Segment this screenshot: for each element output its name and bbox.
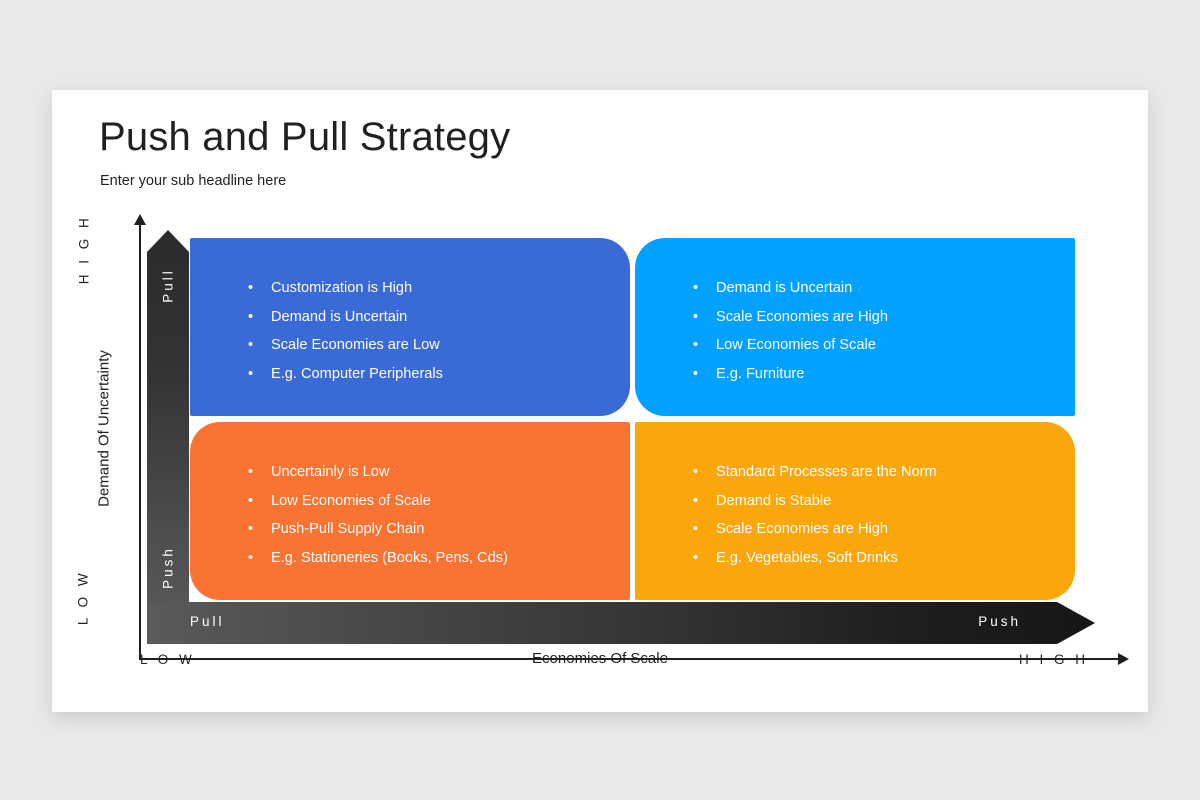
list-item-label: E.g. Stationeries (Books, Pens, Cds) xyxy=(271,550,508,566)
bullet-icon: • xyxy=(693,274,698,303)
bullet-icon: • xyxy=(248,331,253,360)
list-item-label: Demand is Stable xyxy=(716,493,831,509)
list-item: •Uncertainly is Low xyxy=(248,458,508,487)
list-item-label: E.g. Vegetables, Soft Drinks xyxy=(716,550,898,566)
list-item-label: Uncertainly is Low xyxy=(271,464,389,480)
list-item-label: Demand is Uncertain xyxy=(716,280,852,296)
bullet-icon: • xyxy=(248,274,253,303)
list-item: •E.g. Stationeries (Books, Pens, Cds) xyxy=(248,544,508,573)
list-item-label: Scale Economies are Low xyxy=(271,337,440,353)
vertical-axis-line xyxy=(139,222,141,660)
horizontal-push-pull-bar: Pull Push xyxy=(147,602,1095,644)
list-item: •Demand is Uncertain xyxy=(248,303,443,332)
list-item-label: Customization is High xyxy=(271,280,412,296)
horizontal-bar-pull-label: Pull xyxy=(190,614,225,629)
list-item: •E.g. Computer Peripherals xyxy=(248,360,443,389)
quadrant-bottom-right[interactable]: •Standard Processes are the Norm•Demand … xyxy=(635,422,1075,600)
y-axis-title: Demand Of Uncertainty xyxy=(96,339,113,519)
quadrant-bottom-left[interactable]: •Uncertainly is Low•Low Economies of Sca… xyxy=(190,422,630,600)
bullet-icon: • xyxy=(693,360,698,389)
vertical-axis-arrow-icon xyxy=(134,214,146,225)
quadrant-bottom-left-list: •Uncertainly is Low•Low Economies of Sca… xyxy=(248,458,508,573)
list-item-label: Low Economies of Scale xyxy=(271,493,431,509)
list-item-label: Scale Economies are High xyxy=(716,309,888,325)
horizontal-bar-push-label: Push xyxy=(978,614,1021,629)
bullet-icon: • xyxy=(693,544,698,573)
list-item: •E.g. Furniture xyxy=(693,360,888,389)
y-axis-low-label: L O W xyxy=(76,563,91,633)
list-item: •Standard Processes are the Norm xyxy=(693,458,937,487)
list-item: •Push-Pull Supply Chain xyxy=(248,515,508,544)
bullet-icon: • xyxy=(693,458,698,487)
list-item: •Demand is Uncertain xyxy=(693,274,888,303)
list-item-label: Push-Pull Supply Chain xyxy=(271,521,424,537)
list-item: •Low Economies of Scale xyxy=(248,487,508,516)
quadrant-bottom-right-list: •Standard Processes are the Norm•Demand … xyxy=(693,458,937,573)
bullet-icon: • xyxy=(693,331,698,360)
list-item: •Low Economies of Scale xyxy=(693,331,888,360)
list-item: •Scale Economies are High xyxy=(693,515,937,544)
quadrant-top-left-list: •Customization is High•Demand is Uncerta… xyxy=(248,274,443,389)
list-item: •Scale Economies are Low xyxy=(248,331,443,360)
list-item-label: Standard Processes are the Norm xyxy=(716,464,937,480)
slide-card: Push and Pull Strategy Enter your sub he… xyxy=(52,90,1148,712)
list-item: •Demand is Stable xyxy=(693,487,937,516)
bullet-icon: • xyxy=(248,515,253,544)
bullet-icon: • xyxy=(693,487,698,516)
bullet-icon: • xyxy=(693,515,698,544)
vertical-push-pull-bar: Pull Push xyxy=(147,230,189,630)
list-item: •Scale Economies are High xyxy=(693,303,888,332)
bullet-icon: • xyxy=(248,360,253,389)
list-item-label: Low Economies of Scale xyxy=(716,337,876,353)
quadrant-top-right-list: •Demand is Uncertain•Scale Economies are… xyxy=(693,274,888,389)
vertical-bar-pull-label: Pull xyxy=(161,249,176,323)
x-axis-high-label: H I G H xyxy=(1019,652,1089,667)
bullet-icon: • xyxy=(248,544,253,573)
bullet-icon: • xyxy=(248,303,253,332)
list-item: •Customization is High xyxy=(248,274,443,303)
list-item-label: E.g. Furniture xyxy=(716,366,804,382)
list-item-label: Scale Economies are High xyxy=(716,521,888,537)
quadrant-top-right[interactable]: •Demand is Uncertain•Scale Economies are… xyxy=(635,238,1075,416)
push-pull-matrix: Pull Push Pull Push •Customization is Hi… xyxy=(52,90,1148,712)
list-item: •E.g. Vegetables, Soft Drinks xyxy=(693,544,937,573)
list-item-label: E.g. Computer Peripherals xyxy=(271,366,443,382)
bullet-icon: • xyxy=(693,303,698,332)
bullet-icon: • xyxy=(248,487,253,516)
vertical-bar-push-label: Push xyxy=(161,531,176,605)
y-axis-high-label: H I G H xyxy=(77,215,92,285)
bullet-icon: • xyxy=(248,458,253,487)
x-axis-title: Economies Of Scale xyxy=(52,650,1148,667)
quadrant-top-left[interactable]: •Customization is High•Demand is Uncerta… xyxy=(190,238,630,416)
list-item-label: Demand is Uncertain xyxy=(271,309,407,325)
